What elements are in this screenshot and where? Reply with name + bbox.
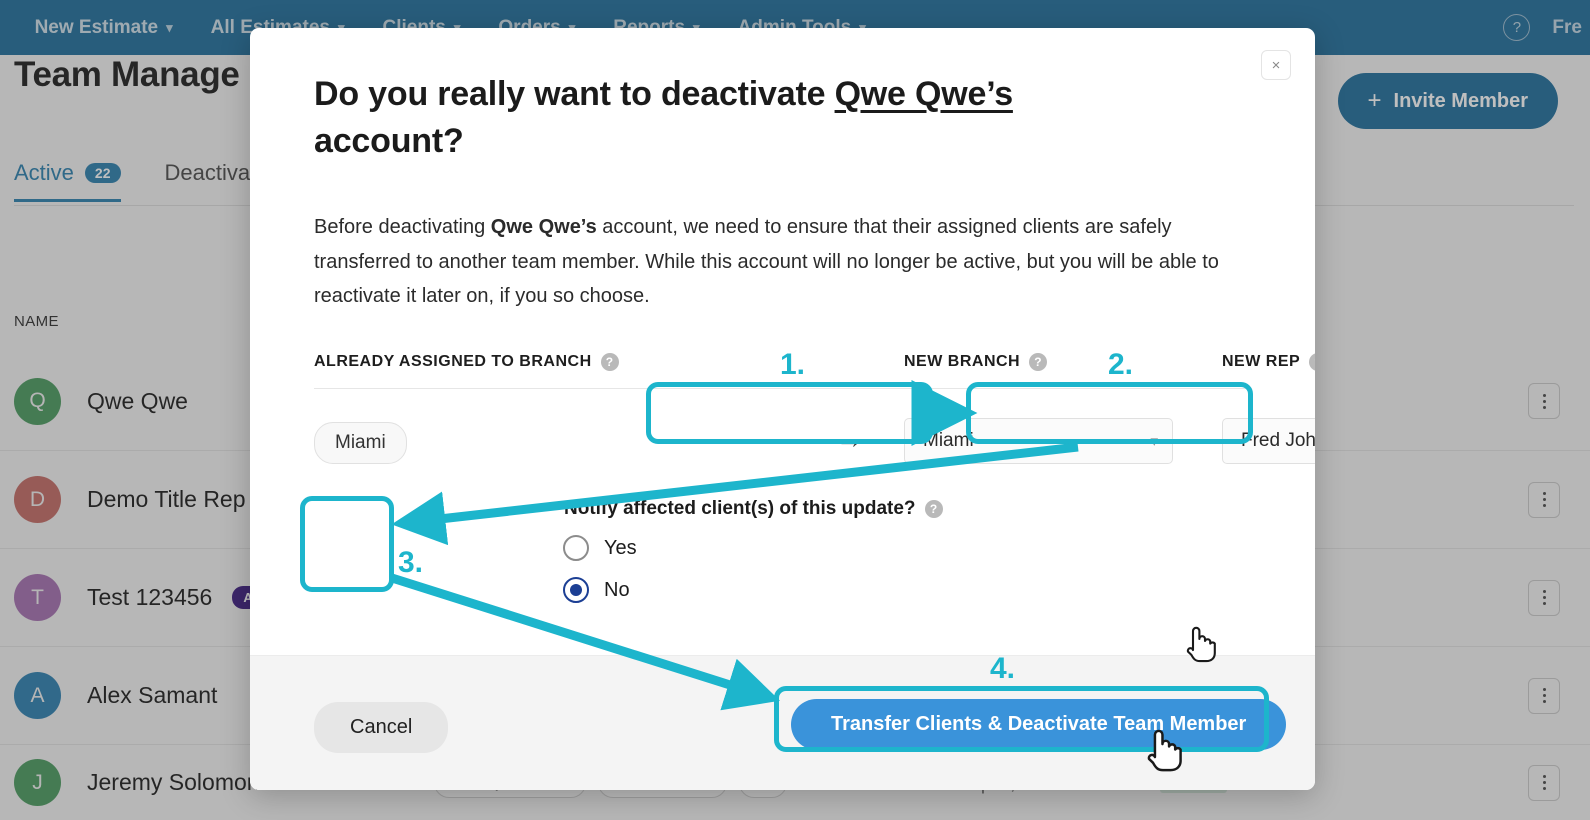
modal-description: Before deactivating Qwe Qwe’s account, w… bbox=[314, 210, 1239, 314]
transfer-deactivate-button[interactable]: Transfer Clients & Deactivate Team Membe… bbox=[791, 699, 1286, 750]
notify-radio-yes[interactable]: Yes bbox=[563, 535, 637, 561]
new-rep-value: Fred Johnson bbox=[1241, 430, 1315, 452]
cancel-button[interactable]: Cancel bbox=[314, 702, 448, 753]
modal-title-prefix: Do you really want to deactivate bbox=[314, 75, 835, 113]
assigned-branch-chip: Miami bbox=[314, 422, 407, 464]
field-header-new-rep: NEW REP ? bbox=[1222, 353, 1315, 371]
field-header-label: NEW REP bbox=[1222, 353, 1300, 371]
radio-label-yes: Yes bbox=[604, 537, 637, 560]
field-header-new-branch: NEW BRANCH ? bbox=[904, 353, 1047, 371]
modal-title: Do you really want to deactivate Qwe Qwe… bbox=[314, 71, 1164, 165]
description-username: Qwe Qwe’s bbox=[491, 216, 597, 238]
close-icon[interactable]: × bbox=[1261, 50, 1291, 80]
modal-footer: Cancel Transfer Clients & Deactivate Tea… bbox=[250, 655, 1315, 790]
close-icon-glyph: × bbox=[1272, 58, 1281, 73]
help-icon[interactable]: ? bbox=[1029, 353, 1047, 371]
help-icon[interactable]: ? bbox=[601, 353, 619, 371]
modal-title-username: Qwe Qwe’s bbox=[835, 75, 1013, 113]
transfer-arrow-icon: → bbox=[836, 424, 863, 455]
radio-icon-unchecked bbox=[563, 535, 589, 561]
description-part-1: Before deactivating bbox=[314, 216, 491, 238]
notify-question-text: Notify affected client(s) of this update… bbox=[564, 498, 916, 520]
help-icon[interactable]: ? bbox=[925, 500, 943, 518]
deactivate-account-modal: × Do you really want to deactivate Qwe Q… bbox=[250, 28, 1315, 790]
field-header-label: ALREADY ASSIGNED TO BRANCH bbox=[314, 353, 592, 371]
radio-icon-checked bbox=[563, 577, 589, 603]
field-header-label: NEW BRANCH bbox=[904, 353, 1020, 371]
modal-title-suffix: account? bbox=[314, 122, 464, 160]
fields-divider bbox=[314, 388, 1252, 389]
new-branch-select[interactable]: Miami ▾ bbox=[904, 418, 1173, 464]
help-icon[interactable]: ? bbox=[1309, 353, 1315, 371]
notify-radio-no[interactable]: No bbox=[563, 577, 630, 603]
new-branch-value: Miami bbox=[923, 430, 974, 452]
field-header-already-assigned: ALREADY ASSIGNED TO BRANCH ? bbox=[314, 353, 619, 371]
new-rep-select[interactable]: Fred Johnson ▾ bbox=[1222, 418, 1315, 464]
chevron-down-icon: ▾ bbox=[1150, 432, 1158, 450]
field-headers-row: ALREADY ASSIGNED TO BRANCH ? NEW BRANCH … bbox=[314, 353, 1254, 379]
radio-label-no: No bbox=[604, 579, 630, 602]
notify-question-label: Notify affected client(s) of this update… bbox=[564, 498, 943, 520]
